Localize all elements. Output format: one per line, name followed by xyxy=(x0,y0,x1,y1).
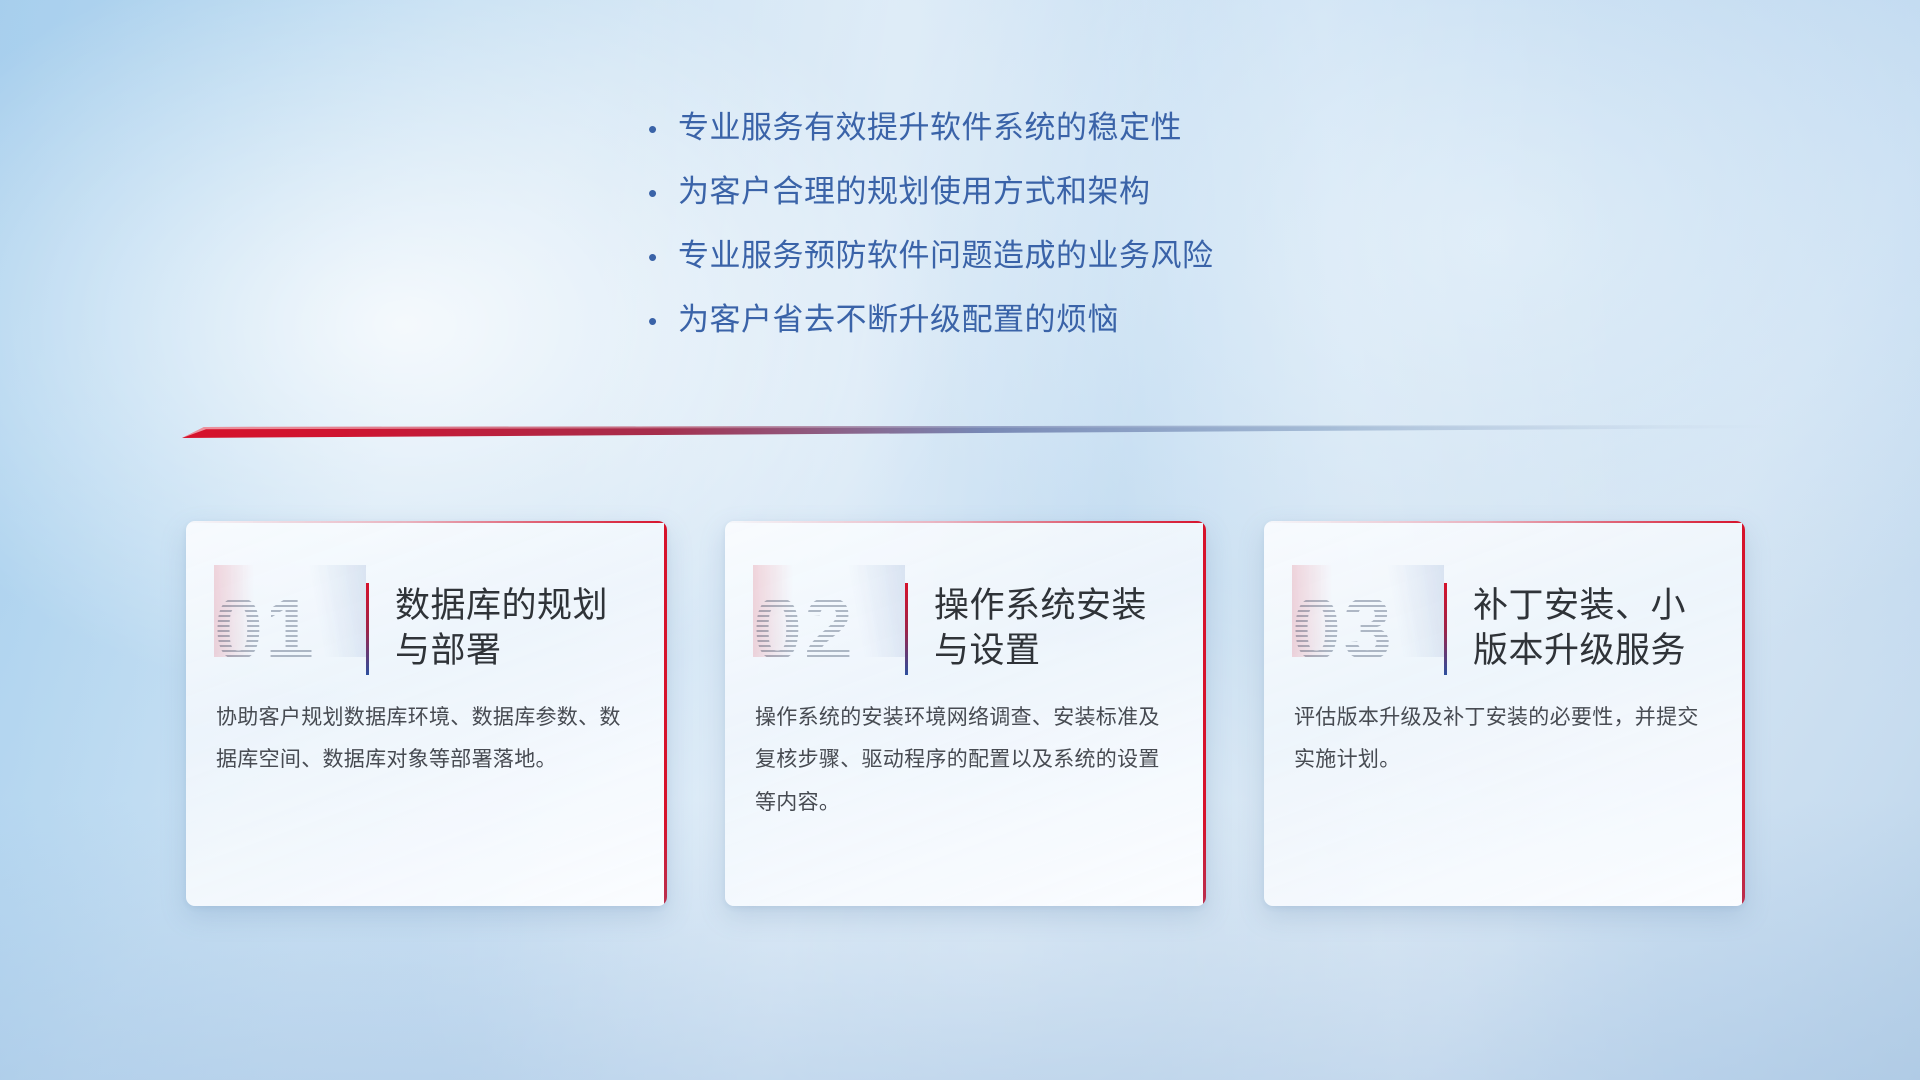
card-description: 协助客户规划数据库环境、数据库参数、数据库空间、数据库对象等部署落地。 xyxy=(186,697,667,782)
service-card[interactable]: 01 数据库的规划与部署 协助客户规划数据库环境、数据库参数、数据库空间、数据库… xyxy=(186,521,667,906)
card-description: 评估版本升级及补丁安装的必要性，并提交实施计划。 xyxy=(1264,697,1745,782)
card-title: 数据库的规划与部署 xyxy=(395,584,637,674)
benefits-bullet-list: • 专业服务有效提升软件系统的稳定性 • 为客户合理的规划使用方式和架构 • 专… xyxy=(648,112,1214,368)
service-card[interactable]: 02 操作系统安装与设置 操作系统的安装环境网络调查、安装标准及复核步骤、驱动程… xyxy=(725,521,1206,906)
card-divider-bar xyxy=(905,583,908,675)
card-number: 01 xyxy=(214,585,366,673)
card-divider-bar xyxy=(1444,583,1447,675)
section-divider xyxy=(182,418,1777,444)
bullet-item: • 为客户省去不断升级配置的烦恼 xyxy=(648,304,1214,368)
service-card-list: 01 数据库的规划与部署 协助客户规划数据库环境、数据库参数、数据库空间、数据库… xyxy=(186,521,1746,911)
card-header: 01 数据库的规划与部署 xyxy=(186,521,667,693)
card-title: 补丁安装、小版本升级服务 xyxy=(1473,584,1715,674)
bullet-item-label: 专业服务预防软件问题造成的业务风险 xyxy=(678,240,1214,271)
bullet-dot-icon: • xyxy=(648,116,678,142)
card-number: 03 xyxy=(1292,585,1444,673)
bullet-item-label: 专业服务有效提升软件系统的稳定性 xyxy=(678,112,1182,143)
card-title: 操作系统安装与设置 xyxy=(934,584,1176,674)
card-divider-bar xyxy=(366,583,369,675)
bullet-dot-icon: • xyxy=(648,180,678,206)
tapered-divider-shape xyxy=(182,418,1777,444)
card-header: 03 补丁安装、小版本升级服务 xyxy=(1264,521,1745,693)
bullet-dot-icon: • xyxy=(648,244,678,270)
bullet-item: • 为客户合理的规划使用方式和架构 xyxy=(648,176,1214,240)
bullet-dot-icon: • xyxy=(648,308,678,334)
card-header: 02 操作系统安装与设置 xyxy=(725,521,1206,693)
bullet-item: • 专业服务有效提升软件系统的稳定性 xyxy=(648,112,1214,176)
bullet-item-label: 为客户省去不断升级配置的烦恼 xyxy=(678,304,1119,335)
card-number: 02 xyxy=(753,585,905,673)
service-card[interactable]: 03 补丁安装、小版本升级服务 评估版本升级及补丁安装的必要性，并提交实施计划。 xyxy=(1264,521,1745,906)
bullet-item: • 专业服务预防软件问题造成的业务风险 xyxy=(648,240,1214,304)
bullet-item-label: 为客户合理的规划使用方式和架构 xyxy=(678,176,1151,207)
card-description: 操作系统的安装环境网络调查、安装标准及复核步骤、驱动程序的配置以及系统的设置等内… xyxy=(725,697,1206,824)
